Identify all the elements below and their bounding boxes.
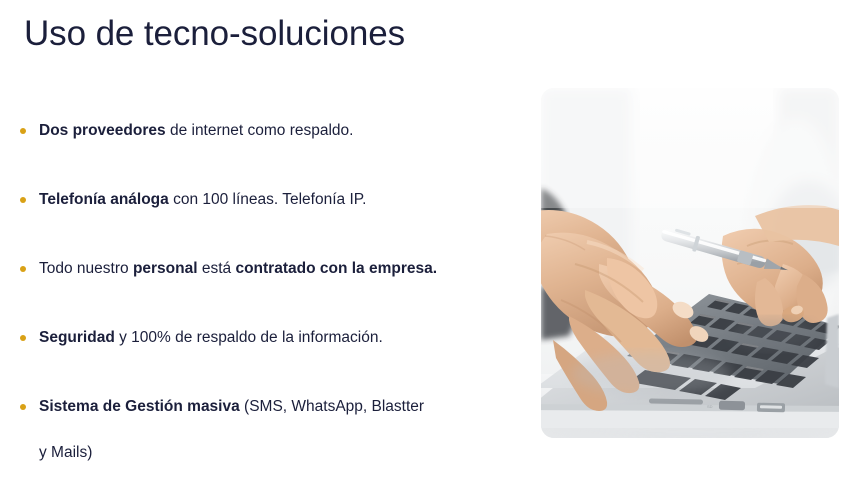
bullet-text-emphasis: Telefonía análoga [39,191,169,208]
bullet-text-emphasis: Sistema de Gestión masiva [39,398,240,415]
bullet-text-emphasis: Seguridad [39,329,115,346]
page-title: Uso de tecno-soluciones [24,14,405,54]
bullet-text-emphasis: personal [133,260,198,277]
bullet-dot-icon [20,266,26,272]
bullet-line: y Mails) [39,430,514,476]
bullet-text: de internet como respaldo. [166,122,354,139]
presentation-slide: Uso de tecno-soluciones Dos proveedores … [0,0,849,480]
bullet-line: Sistema de Gestión masiva (SMS, WhatsApp… [39,384,514,430]
bullet-line: Todo nuestro personal está contratado co… [39,246,514,292]
bullet-text: y Mails) [39,444,92,461]
bullet-item: Telefonía análoga con 100 líneas. Telefo… [14,177,514,223]
bullet-line: Seguridad y 100% de respaldo de la infor… [39,315,514,361]
bullet-dot-icon [20,197,26,203]
bullet-text: (SMS, WhatsApp, Blastter [240,398,424,415]
bullet-item: Dos proveedores de internet como respald… [14,108,514,154]
bullet-list: Dos proveedores de internet como respald… [14,108,514,476]
bullet-text-emphasis: Dos proveedores [39,122,166,139]
bullet-text: y 100% de respaldo de la información. [115,329,383,346]
bullet-dot-icon [20,335,26,341]
bullet-line: Dos proveedores de internet como respald… [39,108,514,154]
bullet-item: Sistema de Gestión masiva (SMS, WhatsApp… [14,384,514,476]
bullet-text: con 100 líneas. Telefonía IP. [169,191,367,208]
hands-typing-on-laptop-photo: SD [541,88,839,438]
svg-text:SD: SD [707,404,713,409]
bullet-text-emphasis: contratado con la empresa. [235,260,437,277]
bullet-line: Telefonía análoga con 100 líneas. Telefo… [39,177,514,223]
bullet-item: Seguridad y 100% de respaldo de la infor… [14,315,514,361]
bullet-item: Todo nuestro personal está contratado co… [14,246,514,292]
bullet-text: está [198,260,236,277]
bullet-dot-icon [20,128,26,134]
bullet-dot-icon [20,404,26,410]
bullet-text: Todo nuestro [39,260,133,277]
